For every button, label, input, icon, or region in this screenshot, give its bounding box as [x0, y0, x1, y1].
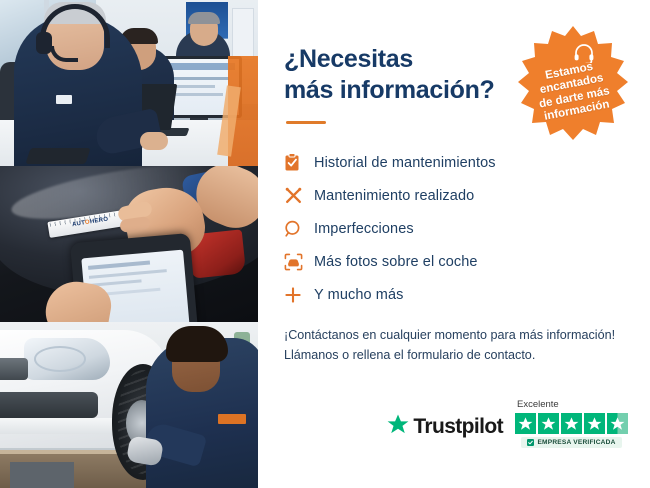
star-rating[interactable]: [515, 413, 628, 434]
car-lower-grille: [0, 392, 98, 418]
star-1: [515, 413, 536, 434]
rating-label: Excelente: [517, 399, 559, 410]
mechanic-logo-patch: [218, 414, 246, 424]
verified-check-icon: [527, 439, 534, 446]
star-3: [561, 413, 582, 434]
star-5-partial: [607, 413, 628, 434]
car-inspection-photo: AUTOHERO: [0, 166, 258, 322]
contact-text: ¡Contáctanos en cualquier momento para m…: [284, 325, 624, 366]
content-panel: ¿Necesitas más información? Estamos enca…: [258, 0, 650, 488]
tablet-line: [88, 261, 150, 270]
page-title: ¿Necesitas más información?: [284, 44, 514, 105]
magnifier-icon: [284, 220, 314, 238]
feature-item-maintenance-history: Historial de mantenimientos: [284, 146, 624, 179]
title-divider: [286, 121, 326, 124]
photo-column: AUTOHERO: [0, 0, 258, 488]
feature-label: Más fotos sobre el coche: [314, 254, 478, 270]
car-upper-grille: [0, 358, 28, 380]
trustpilot-block[interactable]: Trustpilot Excelente: [284, 399, 628, 448]
car-headlight: [24, 338, 110, 380]
trustpilot-rating[interactable]: Excelente EMPRESA VERIFICADA: [515, 399, 628, 448]
feature-label: Mantenimiento realizado: [314, 188, 474, 204]
trustpilot-wordmark: Trustpilot: [413, 415, 503, 439]
screen-toolbar: [163, 63, 235, 70]
verified-company-badge: EMPRESA VERIFICADA: [521, 437, 621, 448]
star-4: [584, 413, 605, 434]
contact-line-1: ¡Contáctanos en cualquier momento para m…: [284, 328, 615, 342]
page-title-line-1: ¿Necesitas: [284, 45, 413, 73]
verified-company-label: EMPRESA VERIFICADA: [537, 439, 615, 446]
trustpilot-star-icon: [387, 414, 409, 440]
trustpilot-logo[interactable]: Trustpilot: [387, 414, 503, 448]
feature-label: Y mucho más: [314, 287, 403, 303]
car-photo-scan-icon: [284, 253, 314, 271]
tools-cross-icon: [284, 186, 314, 205]
car-bumper: [0, 418, 126, 434]
agent-name-badge: [56, 95, 72, 104]
plus-icon: [284, 286, 314, 304]
headset-earcup: [36, 32, 52, 54]
feature-item-much-more: Y mucho más: [284, 278, 624, 311]
desk-tablet: [25, 148, 90, 164]
feature-item-more-photos: Más fotos sobre el coche: [284, 245, 624, 278]
call-center-agent-photo: [0, 0, 258, 166]
wall-poster-2: [232, 8, 254, 60]
tablet-line: [89, 269, 167, 279]
mechanic-hair: [166, 326, 228, 362]
feature-list: Historial de mantenimientos Mantenimient…: [284, 146, 624, 311]
contact-line-2: Llámanos o rellena el formulario de cont…: [284, 348, 535, 362]
screen-line: [165, 77, 229, 80]
background-person-2-hair: [188, 12, 220, 24]
car-lift-pad: [10, 462, 74, 488]
feature-label: Imperfecciones: [314, 221, 414, 237]
clipboard-check-icon: [284, 153, 314, 172]
support-badge: Estamos encantados de darte más informac…: [514, 24, 632, 142]
star-2: [538, 413, 559, 434]
promo-card: AUTOHERO: [0, 0, 650, 488]
feature-item-imperfections: Imperfecciones: [284, 212, 624, 245]
headlight-ring: [34, 346, 86, 372]
page-title-line-2: más información?: [284, 76, 495, 104]
mechanic-wheel-photo: [0, 322, 258, 488]
agent-hand: [140, 132, 168, 150]
feature-label: Historial de mantenimientos: [314, 155, 496, 171]
feature-item-maintenance-done: Mantenimiento realizado: [284, 179, 624, 212]
